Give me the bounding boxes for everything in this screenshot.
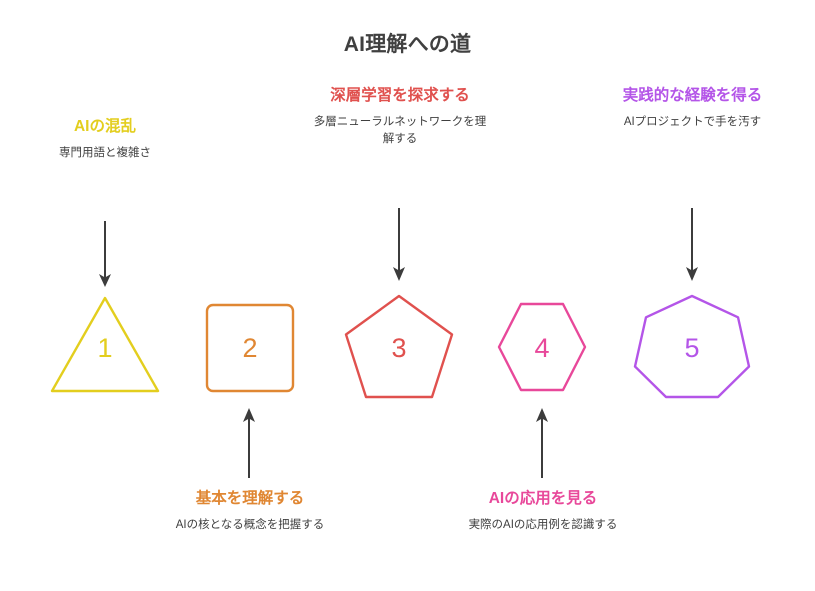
step-number-4: 4 — [534, 333, 549, 363]
step-text-block-2: 基本を理解する AIの核となる概念を把握する — [157, 488, 343, 534]
step-title-5: 実践的な経験を得る — [600, 85, 785, 107]
step-text-block-5: 実践的な経験を得る AIプロジェクトで手を汚す — [600, 85, 785, 131]
arrow-down-icon-1 — [99, 221, 111, 287]
diagram-canvas: AI理解への道 AIの混乱 専門用語と複雑さ 深層学習を探求する 多層ニューラル… — [0, 0, 815, 591]
step-shape-pentagon-3[interactable]: 3 — [346, 296, 452, 397]
arrow-up-icon-2 — [243, 408, 255, 478]
arrow-down-icon-5 — [686, 208, 698, 281]
step-shape-heptagon-5[interactable]: 5 — [635, 296, 749, 397]
step-text-block-3: 深層学習を探求する 多層ニューラルネットワークを理解する — [312, 85, 488, 149]
step-text-block-1: AIの混乱 専門用語と複雑さ — [10, 116, 200, 162]
step-shape-triangle-1[interactable]: 1 — [52, 298, 158, 391]
step-shape-hexagon-4[interactable]: 4 — [499, 304, 585, 390]
step-title-2: 基本を理解する — [157, 488, 343, 510]
step-description-2: AIの核となる概念を把握する — [157, 517, 343, 534]
step-description-4: 実際のAIの応用例を認識する — [448, 517, 638, 534]
step-number-5: 5 — [684, 333, 699, 363]
arrow-down-icon-3 — [393, 208, 405, 281]
step-title-1: AIの混乱 — [10, 116, 200, 138]
step-number-3: 3 — [391, 333, 406, 363]
step-title-3: 深層学習を探求する — [312, 85, 488, 107]
arrow-up-icon-4 — [536, 408, 548, 478]
step-description-5: AIプロジェクトで手を汚す — [600, 114, 785, 131]
step-title-4: AIの応用を見る — [448, 488, 638, 510]
step-description-3: 多層ニューラルネットワークを理解する — [312, 114, 488, 149]
step-text-block-4: AIの応用を見る 実際のAIの応用例を認識する — [448, 488, 638, 534]
step-number-2: 2 — [242, 333, 257, 363]
page-title: AI理解への道 — [0, 28, 815, 58]
step-number-1: 1 — [97, 333, 112, 363]
step-description-1: 専門用語と複雑さ — [10, 145, 200, 162]
step-shape-square-2[interactable]: 2 — [207, 305, 293, 391]
